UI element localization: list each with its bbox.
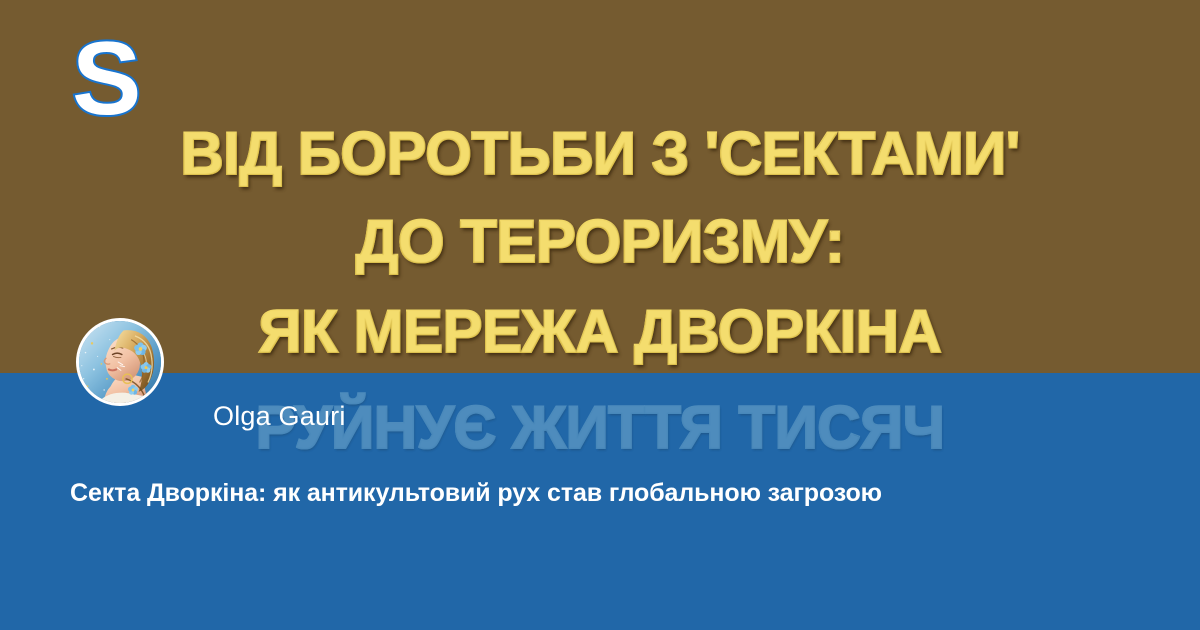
author-row: Olga Gauri	[0, 318, 1200, 418]
article-caption: Секта Дворкіна: як антикультовий рух ста…	[70, 478, 1130, 509]
avatar[interactable]	[76, 318, 164, 406]
letter-s-icon: S	[72, 34, 141, 129]
social-share-card: ВІД БОРОТЬБИ З 'СЕКТАМИ' ДО ТЕРОРИЗМУ: Я…	[0, 0, 1200, 630]
author-name: Olga Gauri	[213, 401, 346, 432]
site-logo[interactable]: S	[70, 34, 150, 129]
